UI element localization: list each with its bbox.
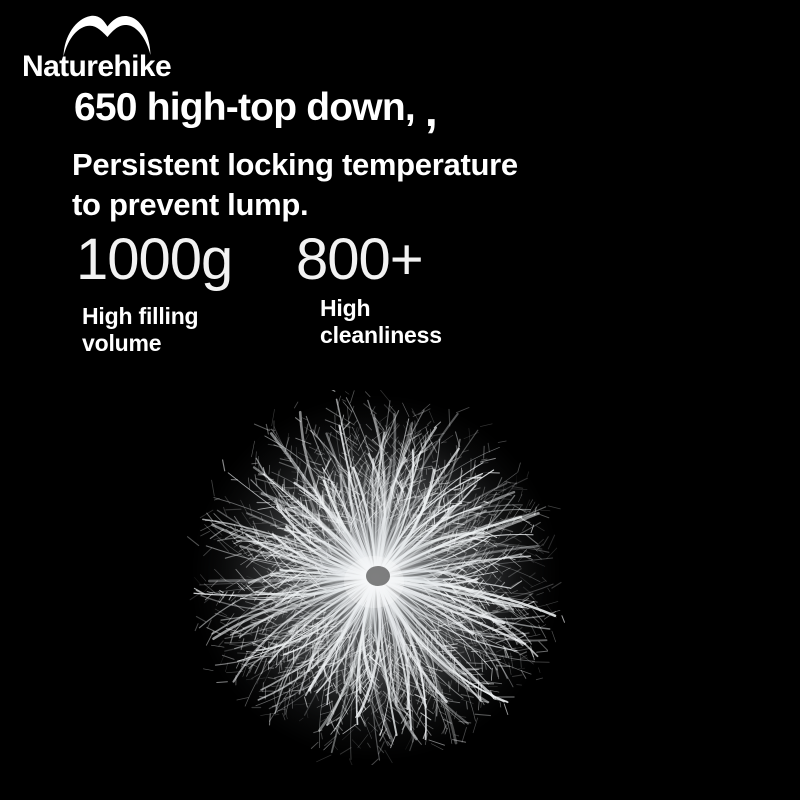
subtitle-line-1: Persistent locking temperature — [72, 145, 518, 185]
stat-value: 1000g — [76, 231, 232, 289]
stat-label-line-2: cleanliness — [320, 322, 442, 349]
stat-label: High cleanliness — [320, 295, 442, 349]
stat-label: High filling volume — [82, 303, 232, 357]
headline-trailing-comma: , — [425, 86, 437, 134]
brand-logo: Naturehike — [22, 8, 282, 86]
brand-wordmark: Naturehike — [22, 52, 171, 82]
stat-value: 800+ — [296, 231, 442, 289]
stat-high-filling-volume: 1000g High filling volume — [76, 231, 232, 357]
down-feather-cluster-image — [186, 390, 566, 765]
subtitle: Persistent locking temperature to preven… — [72, 145, 518, 224]
stats-row: 1000g High filling volume 800+ High clea… — [0, 231, 800, 391]
stat-label-line-1: High filling — [82, 303, 232, 330]
stat-high-cleanliness: 800+ High cleanliness — [296, 231, 442, 349]
headline-text: 650 high-top down, — [74, 86, 415, 129]
stat-label-line-2: volume — [82, 330, 232, 357]
stat-label-line-1: High — [320, 295, 442, 322]
product-banner: Naturehike 650 high-top down,, Persisten… — [0, 0, 800, 800]
page-title: 650 high-top down,, — [74, 86, 437, 134]
subtitle-line-2: to prevent lump. — [72, 185, 518, 225]
